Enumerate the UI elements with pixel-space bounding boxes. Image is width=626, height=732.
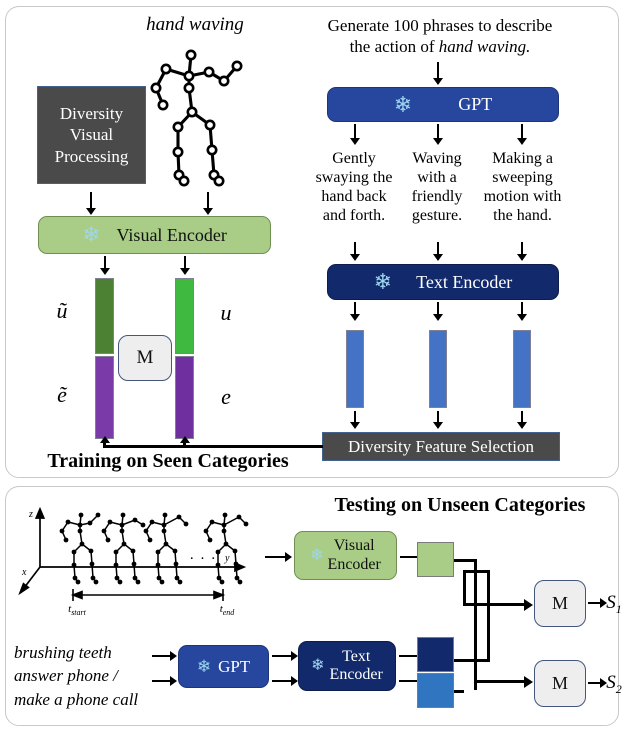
snowflake-icon: ❄ [374, 271, 392, 293]
action-label: hand waving [110, 14, 280, 36]
text-encoder-training-label: Text Encoder [416, 272, 512, 293]
training-caption: Training on Seen Categories [18, 450, 318, 474]
text-feature-bar-2 [429, 330, 447, 408]
visual-feature-square [417, 542, 454, 577]
arrow-dvp-to-visual-encoder-head [86, 208, 96, 215]
phrase-2-line-4: gesture. [396, 207, 478, 226]
wire-green-down [474, 559, 477, 690]
phrase-3-line-2: sweeping [476, 169, 569, 188]
label-e-tilde: ẽ [42, 382, 82, 408]
wire-navy-out [454, 659, 490, 662]
time-span-bracket [70, 588, 230, 602]
dvp-line-1: Diversity [55, 103, 129, 124]
snowflake-icon: ❄ [394, 94, 412, 116]
arrow-gpt-to-text-encoder-2 [272, 680, 293, 682]
feedback-arrow-head-e [180, 436, 190, 443]
prompt-line-2-pre: the action of [350, 37, 435, 56]
visual-encoder-label: Visual Encoder [117, 225, 227, 246]
arrow-phrase-2-to-text-encoder-head [433, 254, 443, 261]
label-e: e [206, 384, 246, 410]
phrase-3-line-3: motion with [476, 188, 569, 207]
phrase-2-line-1: Waving [396, 150, 478, 169]
phrase-3-line-4: the hand. [476, 207, 569, 226]
text-feature-bar-1 [346, 330, 364, 408]
arrow-bar-3-to-dfs-head [517, 422, 527, 429]
arrow-skeleton-to-visual-encoder-testing-head [285, 552, 292, 562]
arrow-text-to-gpt-1 [152, 655, 172, 657]
wire-navy-up [487, 570, 490, 662]
score-s1: S1 [601, 592, 626, 616]
m-module-testing-1[interactable]: M [534, 580, 586, 627]
dvp-line-3: Processing [55, 146, 129, 167]
arrow-ve-to-u-tilde-head [100, 268, 110, 275]
prompt-line-2-action: hand waving. [439, 37, 531, 56]
wire-green-to-m2-head [524, 676, 533, 688]
phrase-2: Waving with a friendly gesture. [396, 150, 478, 226]
m-module-testing-2[interactable]: M [534, 660, 586, 707]
text-feature-square-navy [417, 637, 454, 672]
time-start-sub: start [71, 608, 86, 617]
visual-encoder-testing-line-2: Encoder [328, 556, 381, 574]
m-module-training-label: M [137, 347, 154, 369]
arrow-skeleton-to-visual-encoder-head [203, 208, 213, 215]
label-u: u [206, 300, 246, 326]
arrow-te-to-bar-1-head [350, 314, 360, 321]
sequence-ellipsis: · · · [188, 551, 218, 569]
text-feature-square-blue [417, 673, 454, 708]
skeleton-sequence [55, 508, 255, 593]
dvp-line-2: Visual [55, 124, 129, 145]
diversity-visual-processing-box[interactable]: Diversity Visual Processing [37, 86, 146, 184]
text-encoder-box-training[interactable]: ❄ Text Encoder [327, 264, 559, 300]
score-s2-base: S [606, 672, 616, 693]
score-s2-sub: 2 [616, 682, 622, 696]
text-encoder-box-testing[interactable]: ❄ Text Encoder [298, 641, 396, 691]
gpt-box-training[interactable]: ❄ GPT [327, 87, 559, 122]
arrow-gpt-to-phrase-2-head [433, 138, 443, 145]
text-encoder-testing-line-1: Text [330, 648, 383, 666]
score-s1-base: S [606, 592, 616, 613]
testing-caption: Testing on Unseen Categories [310, 494, 610, 518]
wire-top-bridge [463, 570, 489, 573]
phrase-1-line-4: and forth. [310, 207, 398, 226]
arrow-te-to-bar-3-head [517, 314, 527, 321]
feature-bar-u-tilde [95, 278, 114, 354]
wire-blue-out [454, 690, 464, 693]
feature-bar-u [175, 278, 194, 354]
unseen-class-line-3: make a phone call [14, 688, 172, 711]
phrase-1-line-1: Gently [310, 150, 398, 169]
arrow-text-to-gpt-1-head [170, 651, 177, 661]
wire-green-to-m2 [474, 680, 527, 683]
snowflake-icon: ❄ [197, 658, 211, 675]
arrow-prompt-to-gpt-head [433, 78, 443, 85]
skeleton-pose-hand-waving [148, 42, 268, 197]
visual-encoder-testing-line-1: Visual [328, 537, 381, 555]
phrase-1-line-2: swaying the [310, 169, 398, 188]
snowflake-icon: ❄ [310, 548, 323, 564]
arrow-gpt-to-text-encoder-1 [272, 655, 293, 657]
wire-navy-to-m1-head [524, 599, 533, 611]
arrow-gpt-to-phrase-1-head [350, 138, 360, 145]
gpt-testing-label: GPT [218, 657, 250, 677]
dfs-label: Diversity Feature Selection [348, 437, 534, 457]
score-s1-sub: 1 [616, 602, 622, 616]
feature-bar-e-tilde [95, 356, 114, 439]
unseen-class-line-2: answer phone / [14, 664, 172, 687]
text-feature-bar-3 [513, 330, 531, 408]
phrase-3: Making a sweeping motion with the hand. [476, 150, 569, 226]
prompt-line-1: Generate 100 phrases to describe [300, 16, 580, 36]
prompt-line-2: the action of hand waving. [300, 37, 580, 57]
arrow-ve-to-u-head [180, 268, 190, 275]
visual-encoder-box-testing[interactable]: ❄ Visual Encoder [294, 531, 397, 580]
unseen-class-line-1: brushing teeth [14, 641, 172, 664]
arrow-bar-2-to-dfs-head [433, 422, 443, 429]
time-end-label: tend [202, 603, 252, 618]
svg-text:z: z [28, 509, 33, 520]
arrow-gpt-to-text-encoder-2-head [291, 676, 298, 686]
arrow-te-to-bar-2-head [433, 314, 443, 321]
m-module-testing-1-label: M [552, 593, 568, 614]
phrase-3-line-1: Making a [476, 150, 569, 169]
phrase-1-line-3: hand back [310, 188, 398, 207]
arrow-skeleton-to-visual-encoder-testing [265, 556, 287, 558]
feature-bar-e [175, 356, 194, 439]
arrow-gpt-to-text-encoder-1-head [291, 651, 298, 661]
time-start-label: tstart [52, 603, 102, 618]
feedback-line-dfs-to-features [104, 445, 323, 448]
arrow-phrase-1-to-text-encoder-head [350, 254, 360, 261]
text-encoder-testing-line-2: Encoder [330, 666, 383, 684]
svg-text:x: x [21, 567, 27, 578]
snowflake-icon: ❄ [82, 224, 100, 246]
wire-navy-to-m1 [463, 603, 527, 606]
m-module-training[interactable]: M [118, 335, 172, 381]
diversity-feature-selection-box[interactable]: Diversity Feature Selection [322, 432, 560, 461]
phrase-1: Gently swaying the hand back and forth. [310, 150, 398, 226]
gpt-training-label: GPT [458, 94, 492, 115]
arrow-gpt-to-phrase-3-head [517, 138, 527, 145]
score-s2: S2 [601, 672, 626, 696]
arrow-phrase-3-to-text-encoder-head [517, 254, 527, 261]
feedback-arrow-head-e-tilde [100, 436, 110, 443]
arrow-text-to-gpt-2 [152, 680, 172, 682]
m-module-testing-2-label: M [552, 673, 568, 694]
phrase-2-line-3: friendly [396, 188, 478, 207]
unseen-class-text: brushing teeth answer phone / make a pho… [14, 641, 172, 711]
snowflake-icon: ❄ [311, 658, 324, 674]
wire-navy-riser [463, 570, 466, 606]
arrow-bar-1-to-dfs-head [350, 422, 360, 429]
phrase-2-line-2: with a [396, 169, 478, 188]
label-u-tilde: ũ [42, 298, 82, 324]
arrow-text-to-gpt-2-head [170, 676, 177, 686]
gpt-box-testing[interactable]: ❄ GPT [178, 645, 269, 688]
time-end-sub: end [223, 608, 235, 617]
visual-encoder-box[interactable]: ❄ Visual Encoder [38, 216, 271, 254]
